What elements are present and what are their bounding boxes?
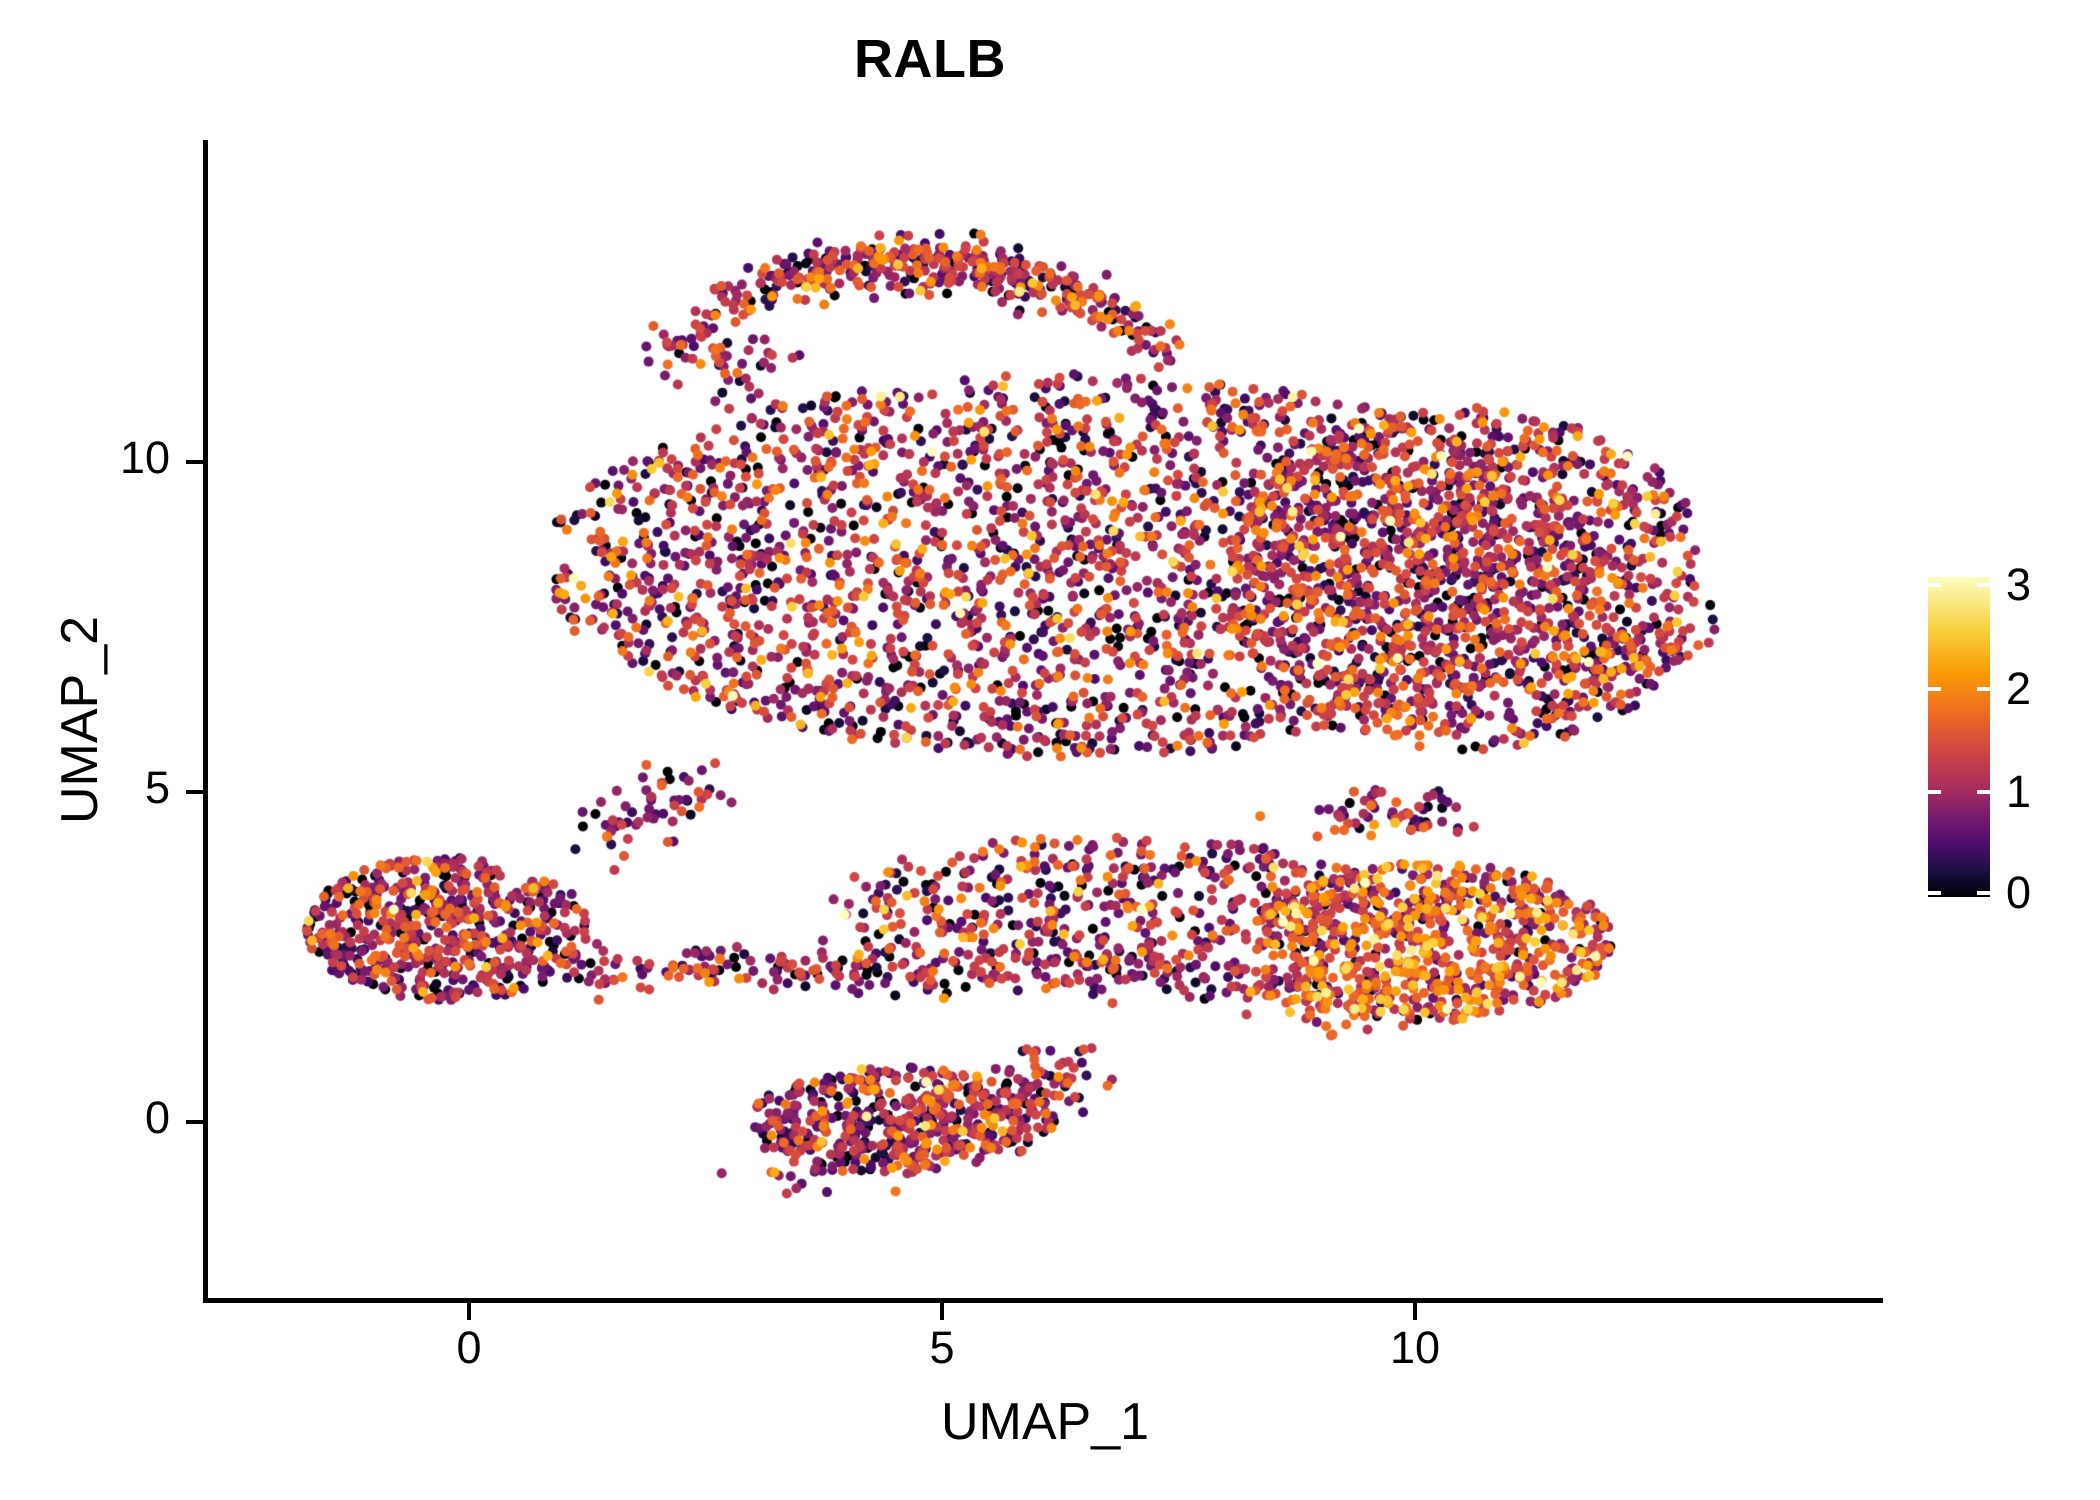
colorbar-label-3: 3 [2006,559,2031,611]
scatter-plot-panel [205,140,1883,1300]
y-tick-mark-5 [186,790,203,794]
colorbar-tick-1-right [1977,790,1990,794]
x-tick-mark-5 [940,1303,944,1320]
colorbar-tick-1-left [1928,790,1941,794]
y-tick-mark-0 [186,1120,203,1124]
y-axis-title: UMAP_2 [50,340,110,1100]
colorbar-tick-3-right [1977,583,1990,587]
x-tick-mark-0 [467,1303,471,1320]
x-tick-label-0: 0 [419,1322,519,1374]
colorbar-tick-0-right [1977,891,1990,895]
scatter-points-canvas [205,140,1883,1300]
colorbar-tick-0-left [1928,891,1941,895]
colorbar-tick-2-left [1928,687,1941,691]
plot-page: RALB 10 5 0 0 5 10 UMAP_1 UMAP_2 3 2 1 0 [0,0,2100,1500]
colorbar-tick-2-right [1977,687,1990,691]
colorbar-label-2: 2 [2006,663,2031,715]
colorbar-label-1: 1 [2006,766,2031,818]
x-tick-label-10: 10 [1365,1322,1465,1374]
x-tick-mark-10 [1413,1303,1417,1320]
x-axis-title: UMAP_1 [205,1392,1885,1452]
x-tick-label-5: 5 [892,1322,992,1374]
y-axis-line [203,140,208,1303]
x-axis-line [203,1298,1883,1303]
colorbar-tick-3-left [1928,583,1941,587]
colorbar-gradient [1928,577,1990,897]
page-title: RALB [0,28,1860,90]
y-tick-mark-10 [186,460,203,464]
colorbar-legend: 3 2 1 0 [1928,577,1990,897]
colorbar-label-0: 0 [2006,867,2031,919]
